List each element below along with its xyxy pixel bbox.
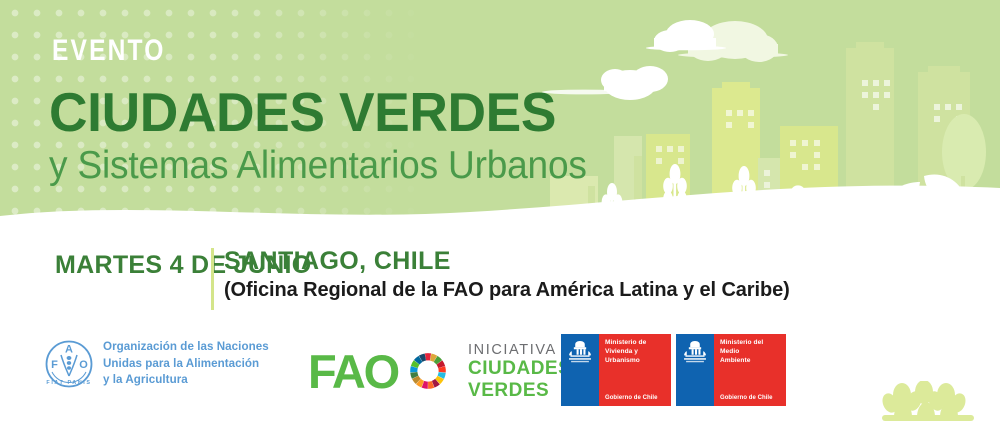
chile-coat-of-arms-icon [566,339,594,365]
green-cities-line2: CIUDADES [468,358,571,379]
fao-un-label: Organización de las Naciones Unidas para… [103,339,269,388]
fao-motto-text: FIAT PANIS [46,380,91,386]
event-info-strip: MARTES 4 DE JUNIO SANTIAGO, CHILE (Ofici… [0,236,1000,316]
ministry-red-panel: Ministerio de Vivienda y Urbanismo Gobie… [599,334,671,406]
ministry-name: Ministerio de Vivienda y Urbanismo [605,339,646,365]
ministry-logo-ambiente: Ministerio del Medio Ambiente Gobierno d… [676,334,786,406]
info-divider [211,248,214,310]
cloud-group [542,66,668,100]
svg-text:A: A [65,344,73,356]
ministry-blue-panel [561,334,599,406]
ministry-name: Ministerio del Medio Ambiente [720,339,763,365]
event-venue: (Oficina Regional de la FAO para América… [224,280,790,300]
ministry-government-label: Gobierno de Chile [720,395,773,401]
page-subtitle: y Sistemas Alimentarios Urbanos [49,146,587,185]
sdg-wheel-icon [404,347,452,395]
green-cities-line3: VERDES [468,380,571,401]
planter-decoration [872,381,992,427]
event-banner: EVENTO CIUDADES VERDES y Sistemas Alimen… [0,0,1000,427]
green-cities-line1: INICIATIVA [468,342,571,358]
ministry-government-label: Gobierno de Chile [605,395,658,401]
logo-row: A F O FIAT PANIS Organización de las Nac… [0,330,1000,412]
hero-section: EVENTO CIUDADES VERDES y Sistemas Alimen… [0,0,1000,232]
fao-un-logo: A F O FIAT PANIS Organización de las Nac… [44,339,269,389]
green-cities-fao-word: FAO [308,348,398,395]
event-kicker: EVENTO [52,36,166,66]
green-cities-logo: FAO [308,342,571,401]
page-title: CIUDADES VERDES [49,85,556,140]
svg-text:O: O [79,359,88,371]
green-cities-wordmark: INICIATIVA CIUDADES VERDES [468,342,571,401]
ministry-red-panel: Ministerio del Medio Ambiente Gobierno d… [714,334,786,406]
ministry-blue-panel [676,334,714,406]
ministry-logo-vivienda: Ministerio de Vivienda y Urbanismo Gobie… [561,334,671,406]
event-city: SANTIAGO, CHILE [224,249,451,274]
svg-text:F: F [51,359,58,371]
chile-coat-of-arms-icon [681,339,709,365]
fao-emblem-icon: A F O FIAT PANIS [44,339,94,389]
